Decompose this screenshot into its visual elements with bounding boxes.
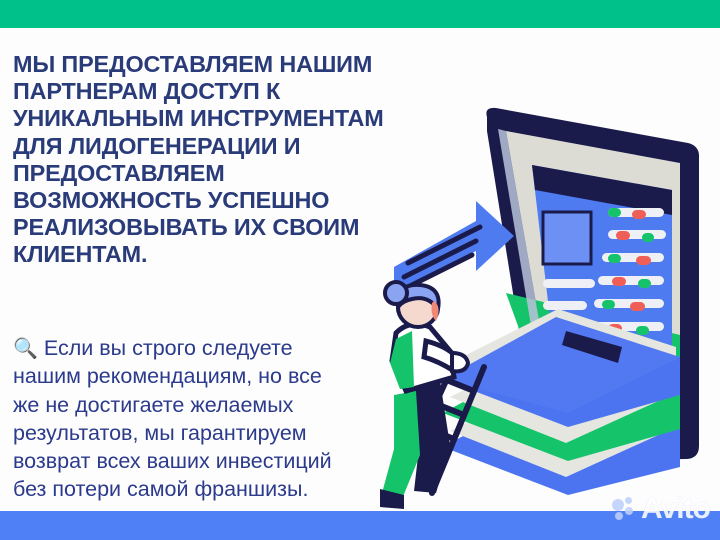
avito-watermark: Avito: [612, 489, 716, 529]
top-accent-band: [0, 0, 720, 28]
page-title: МЫ ПРЕДОСТАВЛЯЕМ НАШИМ ПАРТНЕРАМ ДОСТУП …: [13, 51, 433, 269]
person-hair-bun: [385, 282, 407, 304]
arrow-body: [394, 201, 514, 295]
person-hand: [452, 353, 468, 371]
avito-wordmark: Avito: [641, 494, 710, 524]
body-paragraph-text: Если вы строго следуете нашим рекомендац…: [13, 336, 332, 501]
illustration-svg: [380, 95, 720, 515]
avito-dots-logo-icon: [612, 497, 637, 522]
person-leg-green: [382, 391, 420, 499]
body-paragraph: 🔍 Если вы строго следуете нашим рекоменд…: [13, 306, 405, 503]
dashboard-thumbnail: [543, 212, 591, 264]
magnifying-glass-icon: 🔍: [13, 338, 38, 360]
illustration: [380, 95, 720, 515]
motion-arrow-icon: [394, 201, 514, 295]
promo-slide: МЫ ПРЕДОСТАВЛЯЕМ НАШИМ ПАРТНЕРАМ ДОСТУП …: [0, 0, 720, 540]
book-stack: [443, 309, 680, 495]
